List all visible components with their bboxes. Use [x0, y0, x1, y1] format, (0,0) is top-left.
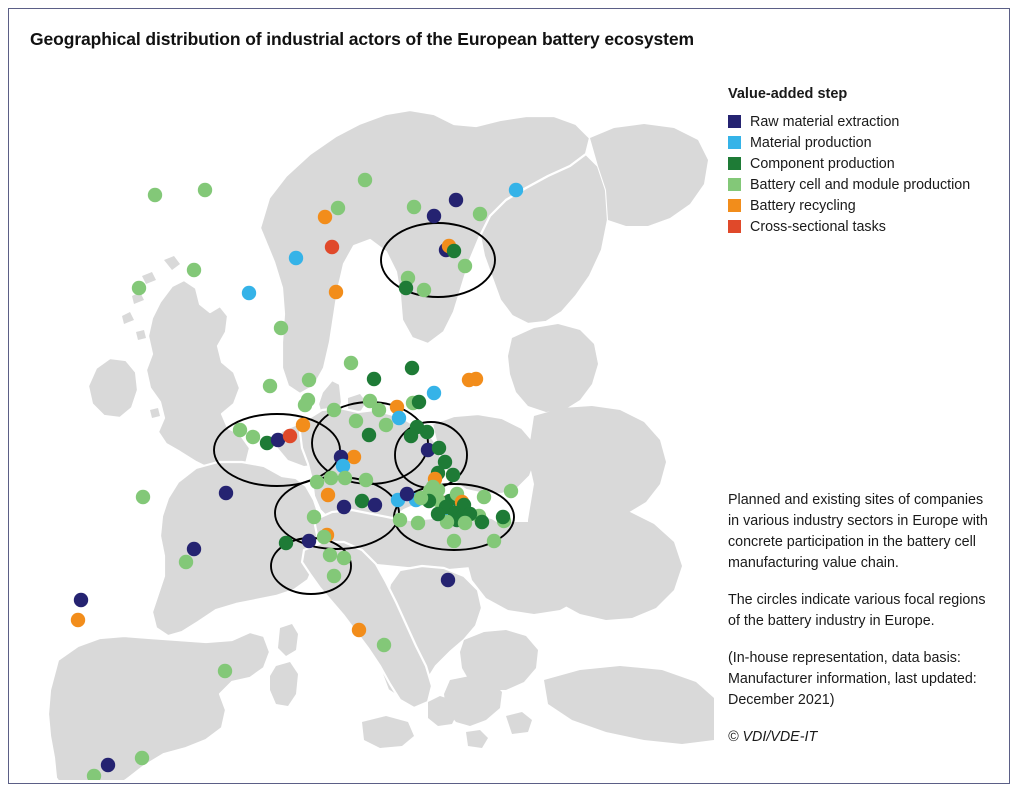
- site-marker-cell[interactable]: [358, 173, 372, 187]
- legend-item-material[interactable]: Material production: [728, 133, 998, 152]
- site-marker-material[interactable]: [427, 386, 441, 400]
- site-marker-cell[interactable]: [324, 471, 338, 485]
- note-paragraph-1: Planned and existing sites of companies …: [728, 490, 993, 574]
- site-marker-cell[interactable]: [349, 414, 363, 428]
- site-marker-cell[interactable]: [407, 200, 421, 214]
- site-marker-component[interactable]: [475, 515, 489, 529]
- site-marker-cell[interactable]: [323, 548, 337, 562]
- legend-swatch-cell: [728, 178, 741, 191]
- legend-label-raw: Raw material extraction: [750, 114, 899, 130]
- site-marker-cell[interactable]: [327, 569, 341, 583]
- legend-label-crosssection: Cross-sectional tasks: [750, 219, 886, 235]
- site-marker-component[interactable]: [431, 507, 445, 521]
- site-marker-cell[interactable]: [337, 551, 351, 565]
- site-marker-recycling[interactable]: [321, 488, 335, 502]
- site-marker-cell[interactable]: [298, 398, 312, 412]
- legend-item-raw[interactable]: Raw material extraction: [728, 112, 998, 131]
- site-marker-cell[interactable]: [331, 201, 345, 215]
- site-marker-raw[interactable]: [427, 209, 441, 223]
- legend-label-material: Material production: [750, 135, 872, 151]
- site-marker-cell[interactable]: [393, 513, 407, 527]
- site-marker-cell[interactable]: [458, 516, 472, 530]
- site-marker-cell[interactable]: [263, 379, 277, 393]
- site-marker-crosssection[interactable]: [283, 429, 297, 443]
- site-marker-raw[interactable]: [441, 573, 455, 587]
- site-marker-cell[interactable]: [179, 555, 193, 569]
- site-marker-material[interactable]: [336, 459, 350, 473]
- site-marker-cell[interactable]: [458, 259, 472, 273]
- site-marker-recycling[interactable]: [296, 418, 310, 432]
- site-marker-component[interactable]: [404, 429, 418, 443]
- site-marker-recycling[interactable]: [318, 210, 332, 224]
- note-paragraph-3: (In-house representation, data basis: Ma…: [728, 648, 993, 711]
- site-marker-cell[interactable]: [377, 638, 391, 652]
- legend-swatch-material: [728, 136, 741, 149]
- site-marker-cell[interactable]: [132, 281, 146, 295]
- legend-item-recycling[interactable]: Battery recycling: [728, 196, 998, 215]
- site-marker-cell[interactable]: [338, 471, 352, 485]
- site-marker-cell[interactable]: [218, 664, 232, 678]
- legend-swatch-component: [728, 157, 741, 170]
- site-marker-component[interactable]: [279, 536, 293, 550]
- site-marker-component[interactable]: [446, 468, 460, 482]
- legend-label-cell: Battery cell and module production: [750, 177, 970, 193]
- map-svg: [14, 80, 714, 780]
- page-title: Geographical distribution of industrial …: [30, 29, 694, 50]
- site-marker-raw[interactable]: [101, 758, 115, 772]
- site-marker-cell[interactable]: [317, 530, 331, 544]
- site-marker-cell[interactable]: [411, 516, 425, 530]
- site-marker-cell[interactable]: [426, 480, 440, 494]
- site-marker-raw[interactable]: [400, 487, 414, 501]
- site-marker-material[interactable]: [509, 183, 523, 197]
- site-marker-component[interactable]: [355, 494, 369, 508]
- legend-swatch-recycling: [728, 199, 741, 212]
- legend-item-cell[interactable]: Battery cell and module production: [728, 175, 998, 194]
- site-marker-cell[interactable]: [417, 283, 431, 297]
- site-marker-raw[interactable]: [368, 498, 382, 512]
- site-marker-cell[interactable]: [307, 510, 321, 524]
- site-marker-cell[interactable]: [136, 490, 150, 504]
- europe-map: [14, 80, 714, 780]
- site-marker-cell[interactable]: [473, 207, 487, 221]
- site-marker-component[interactable]: [362, 428, 376, 442]
- site-marker-cell[interactable]: [187, 263, 201, 277]
- site-marker-component[interactable]: [496, 510, 510, 524]
- site-marker-cell[interactable]: [148, 188, 162, 202]
- site-marker-recycling[interactable]: [71, 613, 85, 627]
- legend-items: Raw material extractionMaterial producti…: [728, 112, 998, 236]
- site-marker-cell[interactable]: [372, 403, 386, 417]
- site-marker-cell[interactable]: [246, 430, 260, 444]
- site-marker-component[interactable]: [412, 395, 426, 409]
- legend-swatch-raw: [728, 115, 741, 128]
- site-marker-material[interactable]: [392, 411, 406, 425]
- site-marker-crosssection[interactable]: [325, 240, 339, 254]
- site-marker-cell[interactable]: [504, 484, 518, 498]
- legend-item-crosssection[interactable]: Cross-sectional tasks: [728, 217, 998, 236]
- site-marker-raw[interactable]: [187, 542, 201, 556]
- site-marker-cell[interactable]: [447, 534, 461, 548]
- figure-root: Geographical distribution of industrial …: [0, 0, 1018, 792]
- site-marker-cell[interactable]: [359, 473, 373, 487]
- legend-swatch-crosssection: [728, 220, 741, 233]
- site-marker-component[interactable]: [399, 281, 413, 295]
- site-marker-raw[interactable]: [219, 486, 233, 500]
- note-paragraph-2: The circles indicate various focal regio…: [728, 590, 993, 632]
- site-marker-recycling[interactable]: [329, 285, 343, 299]
- site-marker-cell[interactable]: [344, 356, 358, 370]
- site-marker-cell[interactable]: [302, 373, 316, 387]
- site-marker-cell[interactable]: [198, 183, 212, 197]
- legend-label-recycling: Battery recycling: [750, 198, 856, 214]
- site-marker-material[interactable]: [289, 251, 303, 265]
- landmasses: [24, 110, 714, 780]
- site-marker-cell[interactable]: [487, 534, 501, 548]
- site-marker-cell[interactable]: [233, 423, 247, 437]
- site-marker-recycling[interactable]: [469, 372, 483, 386]
- site-marker-cell[interactable]: [274, 321, 288, 335]
- site-marker-cell[interactable]: [327, 403, 341, 417]
- legend: Value-added step Raw material extraction…: [728, 86, 998, 238]
- copyright-notice: © VDI/VDE-IT: [728, 727, 993, 748]
- site-marker-cell[interactable]: [414, 491, 428, 505]
- site-marker-component[interactable]: [405, 361, 419, 375]
- site-marker-cell[interactable]: [310, 475, 324, 489]
- site-marker-component[interactable]: [447, 244, 461, 258]
- site-marker-component[interactable]: [432, 441, 446, 455]
- legend-title: Value-added step: [728, 86, 998, 102]
- site-marker-component[interactable]: [420, 425, 434, 439]
- site-marker-raw[interactable]: [302, 534, 316, 548]
- site-marker-raw[interactable]: [337, 500, 351, 514]
- site-marker-cell[interactable]: [135, 751, 149, 765]
- site-marker-material[interactable]: [242, 286, 256, 300]
- legend-item-component[interactable]: Component production: [728, 154, 998, 173]
- site-marker-recycling[interactable]: [352, 623, 366, 637]
- notes-block: Planned and existing sites of companies …: [728, 490, 993, 748]
- legend-label-component: Component production: [750, 156, 895, 172]
- site-marker-raw[interactable]: [449, 193, 463, 207]
- site-marker-cell[interactable]: [379, 418, 393, 432]
- site-marker-cell[interactable]: [477, 490, 491, 504]
- site-marker-raw[interactable]: [74, 593, 88, 607]
- site-marker-component[interactable]: [367, 372, 381, 386]
